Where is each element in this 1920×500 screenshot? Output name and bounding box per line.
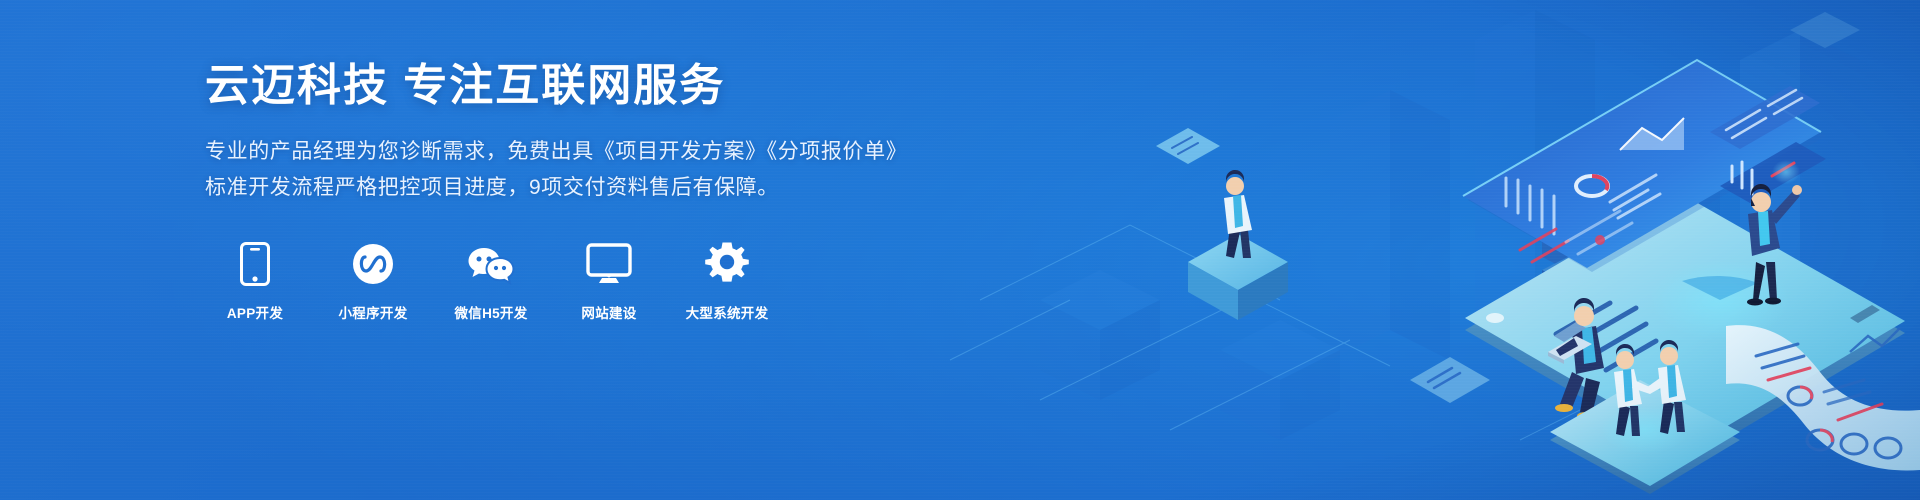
service-item-mini-program[interactable]: 小程序开发: [337, 242, 409, 322]
mini-program-icon: [352, 242, 394, 286]
monitor-icon: [586, 242, 632, 286]
subtitle-line-1: 专业的产品经理为您诊断需求，免费出具《项目开发方案》《分项报价单》: [205, 134, 925, 170]
subtitle-line-2: 标准开发流程严格把控项目进度，9项交付资料售后有保障。: [205, 170, 925, 206]
promo-banner: 云迈科技 专注互联网服务 专业的产品经理为您诊断需求，免费出具《项目开发方案》《…: [0, 0, 1920, 500]
service-label: 小程序开发: [339, 302, 408, 322]
person-on-cube: [1156, 128, 1288, 320]
service-item-app[interactable]: APP开发: [219, 242, 291, 322]
subtitle-block: 专业的产品经理为您诊断需求，免费出具《项目开发方案》《分项报价单》 标准开发流程…: [205, 134, 925, 206]
isometric-illustration: [920, 0, 1920, 500]
mobile-phone-icon: [240, 242, 270, 286]
service-label: 微信H5开发: [454, 302, 527, 322]
service-item-large-system[interactable]: 大型系统开发: [691, 242, 763, 322]
service-label: 网站建设: [581, 302, 636, 322]
wechat-icon: [467, 242, 515, 286]
service-item-wechat-h5[interactable]: 微信H5开发: [455, 242, 527, 322]
floating-tile: [1410, 357, 1490, 403]
banner-copy: 云迈科技 专注互联网服务 专业的产品经理为您诊断需求，免费出具《项目开发方案》《…: [205, 60, 925, 322]
service-label: 大型系统开发: [686, 302, 769, 322]
service-list: APP开发 小程序开发: [219, 242, 925, 322]
service-item-website[interactable]: 网站建设: [573, 242, 645, 322]
service-label: APP开发: [227, 302, 283, 322]
gear-icon: [705, 242, 749, 286]
page-title: 云迈科技 专注互联网服务: [205, 60, 925, 112]
